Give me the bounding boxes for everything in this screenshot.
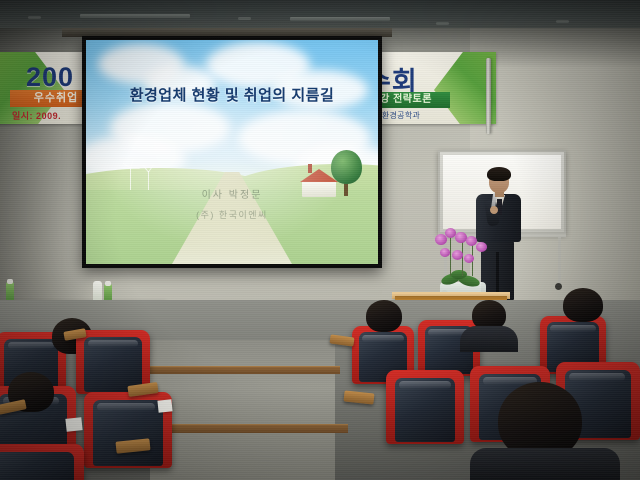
handout-paper bbox=[157, 399, 172, 412]
whiteboard-leg bbox=[558, 237, 561, 285]
orchid-stem bbox=[450, 232, 451, 276]
audience-shoulders bbox=[470, 448, 620, 480]
center-aisle bbox=[150, 340, 335, 480]
audience-head bbox=[563, 288, 603, 322]
seat-highlight bbox=[399, 381, 451, 389]
aisle-step bbox=[148, 366, 340, 374]
orchid-bloom bbox=[476, 242, 487, 252]
handout-paper bbox=[65, 417, 82, 432]
seat-highlight bbox=[88, 340, 138, 347]
ceiling-vent bbox=[238, 17, 251, 20]
slide-presenter: 이사 박정문 bbox=[86, 186, 378, 201]
seat[interactable] bbox=[386, 370, 464, 444]
seat[interactable] bbox=[0, 444, 84, 480]
speaker-hand bbox=[490, 206, 498, 214]
ceiling-light-fixture bbox=[290, 17, 390, 21]
slide-title: 환경업체 현황 및 취업의 지름길 bbox=[86, 84, 378, 105]
lecture-hall-photo: 200 우수취업 일시: 2009. 수회 강 전략토론 학교 환경공학과 bbox=[0, 0, 640, 480]
seat-highlight bbox=[569, 373, 625, 381]
bottle-cap bbox=[7, 279, 13, 284]
seat-cushion bbox=[0, 452, 74, 480]
ceiling-vent bbox=[556, 20, 569, 23]
whiteboard-caster bbox=[555, 283, 562, 290]
slide-company: (주) 한국이엔씨 bbox=[86, 208, 378, 221]
projection-screen: 환경업체 현황 및 취업의 지름길 이사 박정문 (주) 한국이엔씨 bbox=[82, 36, 382, 268]
wall-mounted-rod bbox=[486, 58, 491, 134]
banner-date-text: 일시: 2009. bbox=[12, 109, 61, 122]
audience-head bbox=[366, 300, 402, 332]
speaker-hair bbox=[487, 167, 511, 181]
audience-shoulders bbox=[460, 326, 518, 352]
ceiling-vent bbox=[436, 22, 449, 25]
seat-highlight bbox=[8, 342, 54, 349]
orchid-bloom bbox=[440, 248, 450, 257]
bottle-cap bbox=[105, 281, 111, 286]
orchid-bloom bbox=[452, 250, 463, 260]
projected-slide: 환경업체 현황 및 취업의 지름길 이사 박정문 (주) 한국이엔씨 bbox=[86, 40, 378, 264]
banner-year-text: 200 bbox=[26, 62, 74, 93]
ceiling-vent bbox=[28, 16, 41, 19]
seat-highlight bbox=[550, 325, 596, 332]
seat-highlight bbox=[97, 403, 155, 411]
ceiling-light-fixture bbox=[80, 14, 190, 18]
orchid-bloom bbox=[464, 254, 474, 263]
house-chimney bbox=[308, 164, 312, 173]
tree-crown bbox=[331, 150, 362, 184]
seat-highlight bbox=[362, 335, 404, 342]
